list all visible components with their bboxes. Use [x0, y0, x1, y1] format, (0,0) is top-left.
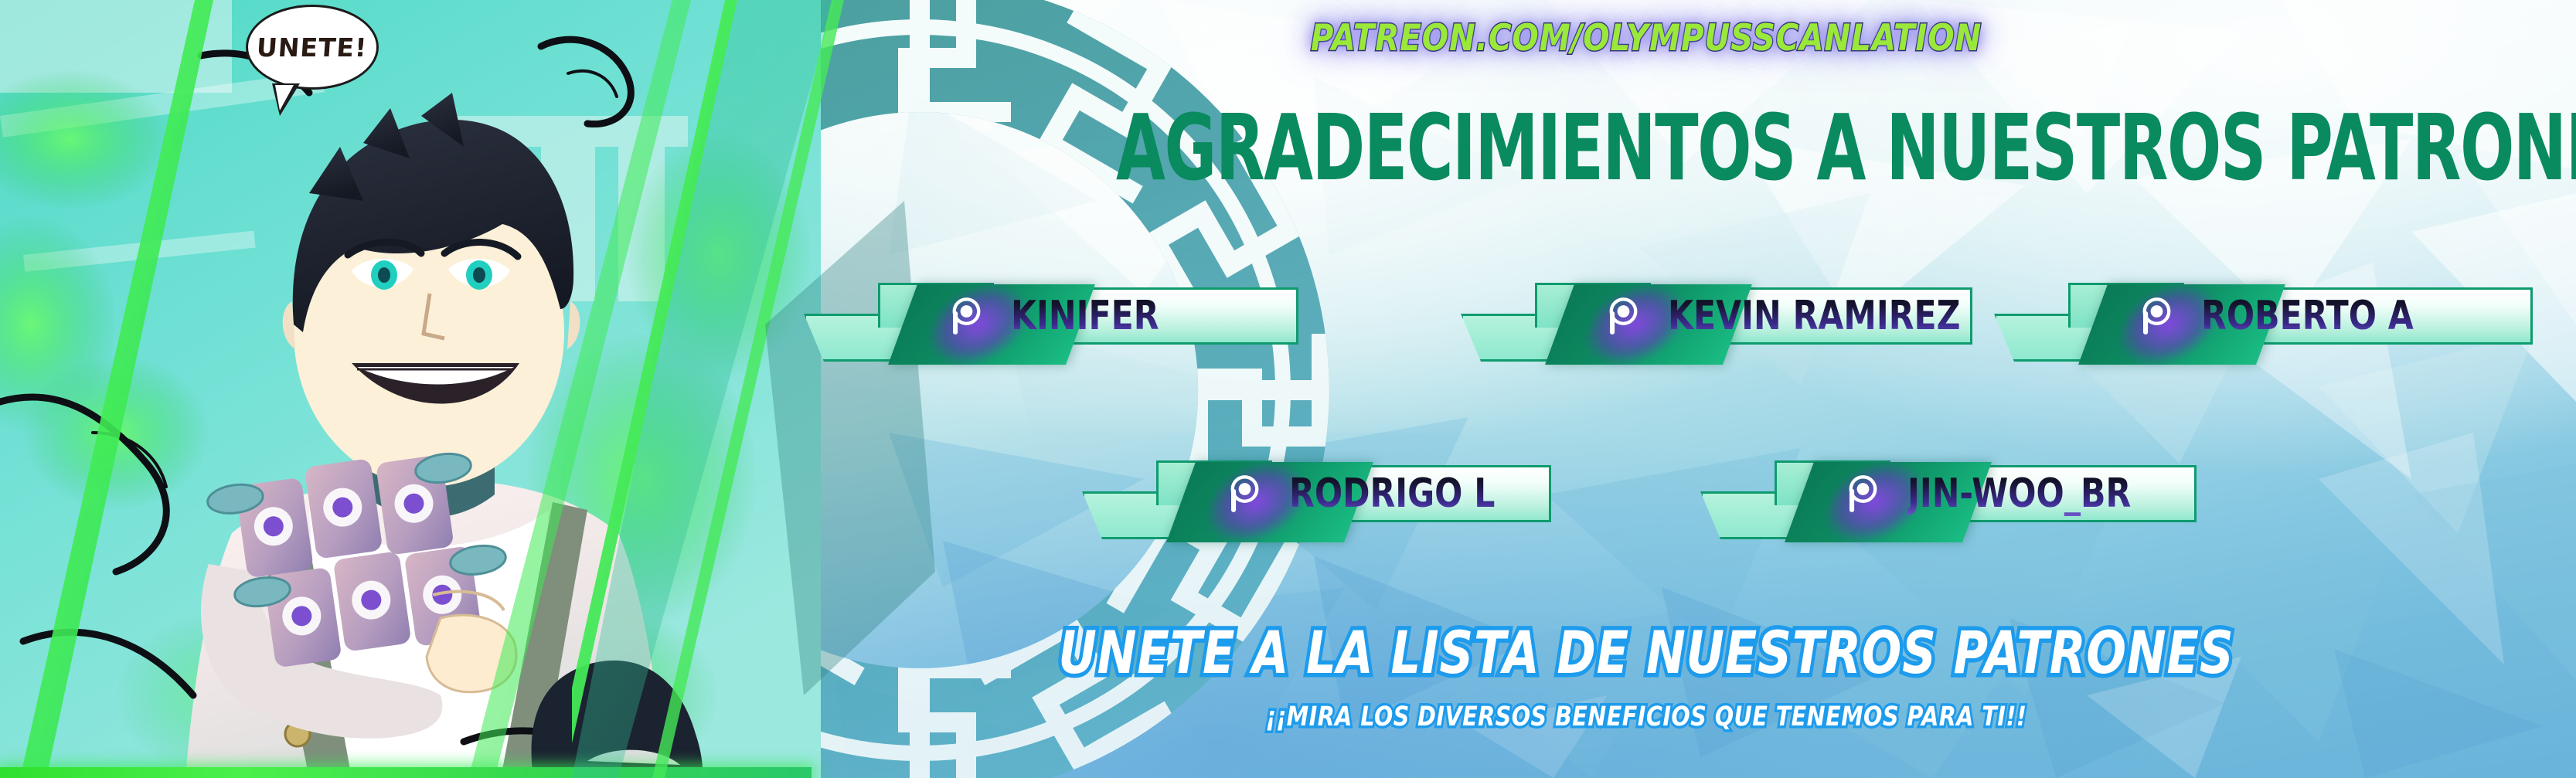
patreon-thanks-banner: UNETE! PATREON.COM/OLYMPUSSCANLATION AGR… [0, 0, 2576, 778]
patron-name: ROBERTO A [2201, 287, 2414, 345]
patron-badge[interactable]: RODRIGO L [1082, 465, 1553, 522]
character-artwork-panel [0, 0, 821, 778]
patreon-logo-icon [2138, 295, 2181, 338]
bottom-green-accent-strip [0, 767, 812, 778]
speech-bubble-tail [272, 83, 300, 116]
patron-badge[interactable]: JIN-WOO_BR [1700, 465, 2195, 522]
patreon-logo-icon [1226, 473, 1269, 516]
patreon-logo-icon [1604, 295, 1648, 338]
patron-name: KEVIN RAMIREZ [1668, 287, 1961, 345]
speech-bubble: UNETE! [246, 5, 379, 90]
patron-badge[interactable]: ROBERTO A [1994, 287, 2535, 345]
patreon-logo-icon [948, 295, 991, 338]
patron-name: JIN-WOO_BR [1907, 465, 2131, 522]
cta-subheadline: ¡¡MIRA LOS DIVERSOS BENEFICIOS QUE TENEM… [1025, 702, 2267, 732]
patron-name: KINIFER [1011, 287, 1159, 345]
patreon-logo-icon [1844, 473, 1887, 516]
patron-badge[interactable]: KEVIN RAMIREZ [1461, 287, 1971, 345]
page-title: AGRADECIMIENTOS A NUESTROS PATRONES [1116, 102, 2176, 193]
patreon-url-text[interactable]: PATREON.COM/OLYMPUSSCANLATION [1015, 17, 2278, 59]
patron-name: RODRIGO L [1289, 465, 1495, 522]
cta-headline[interactable]: UNETE A LA LISTA DE NUESTROS PATRONES [1040, 618, 2252, 687]
speech-bubble-text: UNETE! [256, 32, 369, 63]
patron-badge[interactable]: KINIFER [804, 287, 1298, 345]
